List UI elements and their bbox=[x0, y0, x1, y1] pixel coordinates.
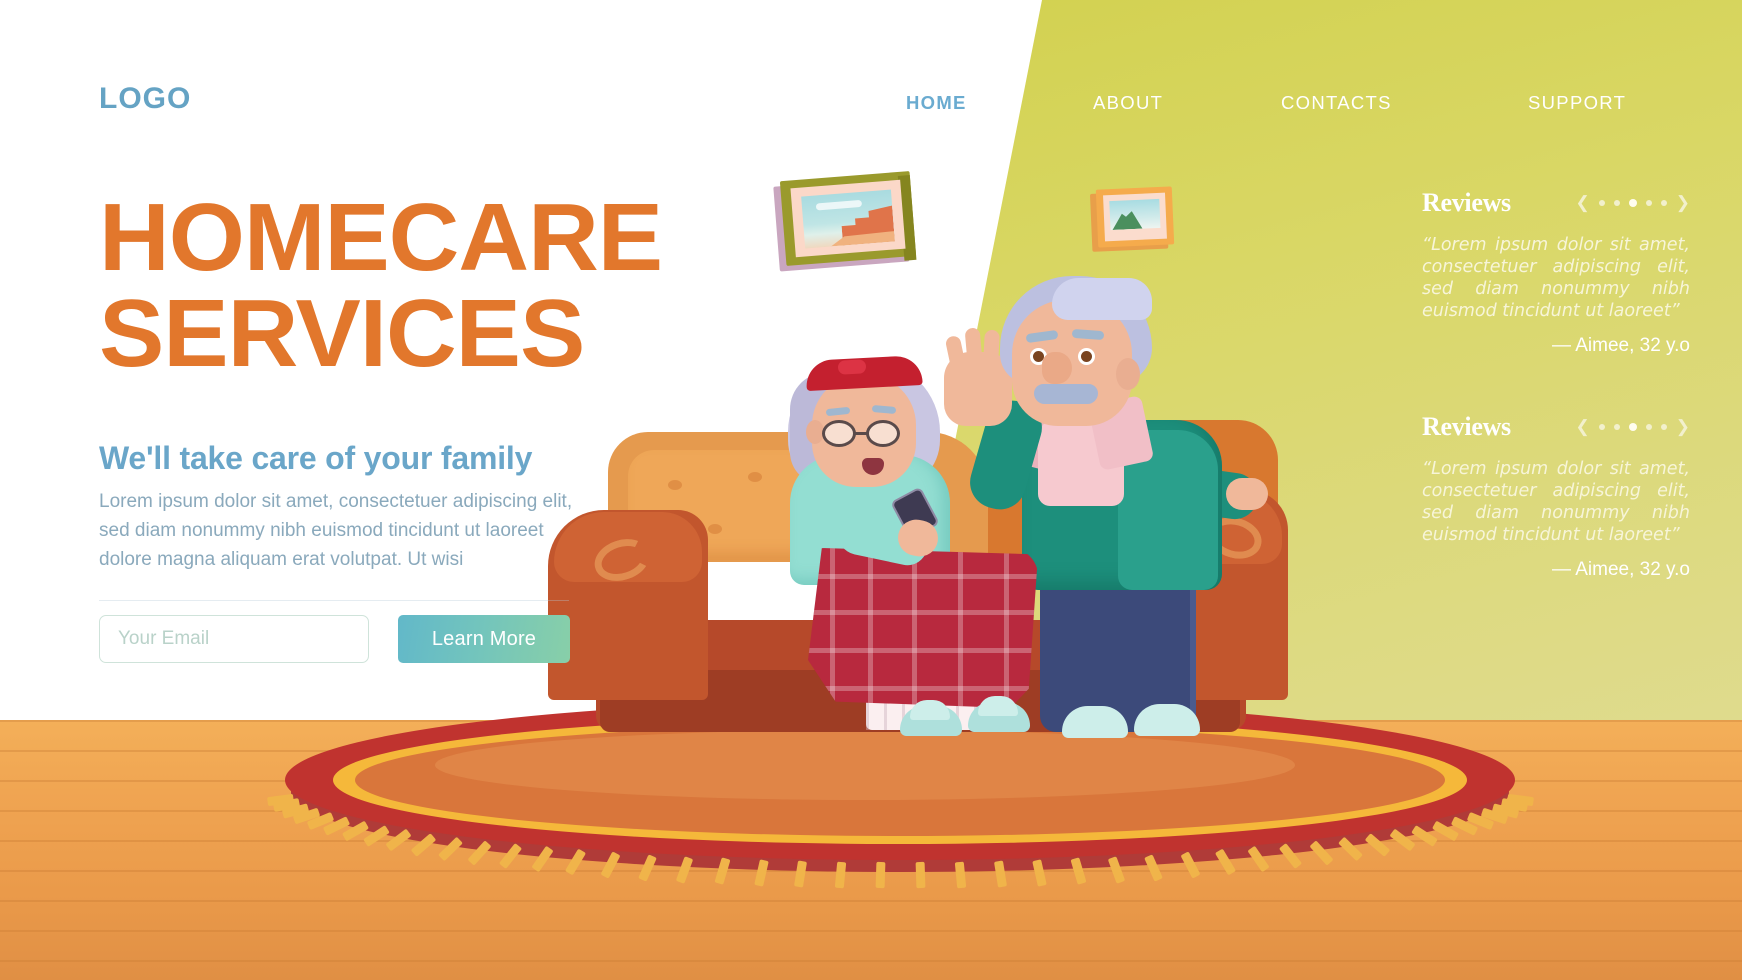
chevron-right-icon[interactable]: ❯ bbox=[1676, 194, 1690, 211]
main-navigation: HOME ABOUT CONTACTS SUPPORT bbox=[0, 92, 1742, 120]
man-hair-highlight bbox=[1052, 278, 1152, 320]
carousel-dot[interactable] bbox=[1646, 424, 1652, 430]
chevron-left-icon[interactable]: ❮ bbox=[1576, 418, 1590, 435]
hill-shape bbox=[1112, 211, 1143, 230]
wall-picture-small bbox=[1096, 186, 1174, 247]
review-card-2: Reviews ❮ ❯ “Lorem ipsum dolor sit amet,… bbox=[1422, 412, 1690, 581]
email-input[interactable] bbox=[99, 615, 369, 663]
blanket-stripe bbox=[912, 548, 917, 708]
carousel-dot-active[interactable] bbox=[1629, 423, 1637, 431]
review-title: Reviews bbox=[1422, 412, 1511, 441]
blanket-stripe bbox=[958, 548, 963, 708]
carousel-dot[interactable] bbox=[1661, 424, 1667, 430]
page-title-line-2: SERVICES bbox=[99, 286, 752, 382]
woman-headband-highlight bbox=[838, 359, 867, 374]
review-carousel-nav: ❮ ❯ bbox=[1576, 418, 1691, 435]
review-header: Reviews ❮ ❯ bbox=[1422, 188, 1690, 222]
nav-item-home[interactable]: HOME bbox=[906, 92, 967, 114]
man-ear bbox=[1116, 358, 1140, 390]
page-title: HOMECARE SERVICES bbox=[99, 190, 752, 382]
nav-item-about[interactable]: ABOUT bbox=[1093, 92, 1163, 114]
page-subtitle: We'll take care of your family bbox=[99, 440, 719, 477]
carousel-dot[interactable] bbox=[1599, 200, 1605, 206]
page-body-text: Lorem ipsum dolor sit amet, consectetuer… bbox=[99, 487, 579, 574]
cushion-tuft bbox=[748, 472, 762, 482]
woman-glasses-bridge bbox=[855, 432, 867, 435]
carousel-dot-active[interactable] bbox=[1629, 199, 1637, 207]
review-title: Reviews bbox=[1422, 188, 1511, 217]
woman-glasses-left-lens bbox=[822, 420, 856, 447]
page-title-line-1: HOMECARE bbox=[99, 190, 752, 286]
wall-picture-large bbox=[780, 171, 916, 266]
carousel-dot[interactable] bbox=[1614, 200, 1620, 206]
picture-artwork bbox=[801, 190, 895, 249]
carousel-dot[interactable] bbox=[1614, 424, 1620, 430]
blanket-stripe bbox=[1004, 548, 1009, 708]
floor-plank bbox=[0, 900, 1742, 902]
landing-page: LOGO HOME ABOUT CONTACTS SUPPORT HOMECAR… bbox=[0, 0, 1742, 980]
cushion-tuft bbox=[668, 480, 682, 490]
rug-fringe bbox=[916, 862, 926, 888]
floor-plank bbox=[0, 930, 1742, 932]
chevron-right-icon[interactable]: ❯ bbox=[1676, 418, 1690, 435]
review-author: — Aimee, 32 y.o bbox=[1422, 335, 1690, 357]
nav-item-contacts[interactable]: CONTACTS bbox=[1281, 92, 1392, 114]
carousel-dot[interactable] bbox=[1599, 424, 1605, 430]
review-carousel-nav: ❮ ❯ bbox=[1576, 194, 1691, 211]
review-author: — Aimee, 32 y.o bbox=[1422, 559, 1690, 581]
carousel-dot[interactable] bbox=[1661, 200, 1667, 206]
man-pupil-right bbox=[1081, 351, 1092, 362]
woman-glasses-right-lens bbox=[866, 420, 900, 447]
man-hand-right bbox=[1226, 478, 1268, 510]
review-header: Reviews ❮ ❯ bbox=[1422, 412, 1690, 446]
blanket-stripe bbox=[808, 686, 1038, 691]
man-slipper-left bbox=[1062, 706, 1128, 738]
man-mustache bbox=[1034, 384, 1098, 404]
man-slipper-right bbox=[1134, 704, 1200, 736]
floor-plank bbox=[0, 960, 1742, 962]
blanket-stripe bbox=[808, 610, 1038, 615]
review-quote: “Lorem ipsum dolor sit amet, consectetue… bbox=[1422, 458, 1690, 546]
carousel-dot[interactable] bbox=[1646, 200, 1652, 206]
man-nose bbox=[1042, 352, 1072, 384]
woman-blanket bbox=[808, 548, 1038, 708]
rug-sheen bbox=[435, 730, 1295, 800]
review-quote: “Lorem ipsum dolor sit amet, consectetue… bbox=[1422, 234, 1690, 322]
learn-more-button[interactable]: Learn More bbox=[398, 615, 570, 663]
review-card-1: Reviews ❮ ❯ “Lorem ipsum dolor sit amet,… bbox=[1422, 188, 1690, 357]
cloud-shape bbox=[816, 200, 862, 211]
blanket-stripe bbox=[868, 548, 873, 708]
blanket-stripe bbox=[808, 574, 1038, 579]
cushion-tuft bbox=[708, 524, 722, 534]
picture-artwork bbox=[1109, 199, 1160, 230]
woman-headband bbox=[805, 355, 922, 391]
nav-item-support[interactable]: SUPPORT bbox=[1528, 92, 1626, 114]
chevron-left-icon[interactable]: ❮ bbox=[1576, 194, 1590, 211]
blanket-stripe bbox=[808, 648, 1038, 653]
form-divider bbox=[99, 600, 569, 601]
rug-fringe bbox=[876, 862, 886, 888]
blanket-stripe bbox=[830, 548, 835, 708]
woman-slipper-right-top bbox=[978, 696, 1018, 716]
woman-slipper-left-top bbox=[910, 700, 950, 720]
